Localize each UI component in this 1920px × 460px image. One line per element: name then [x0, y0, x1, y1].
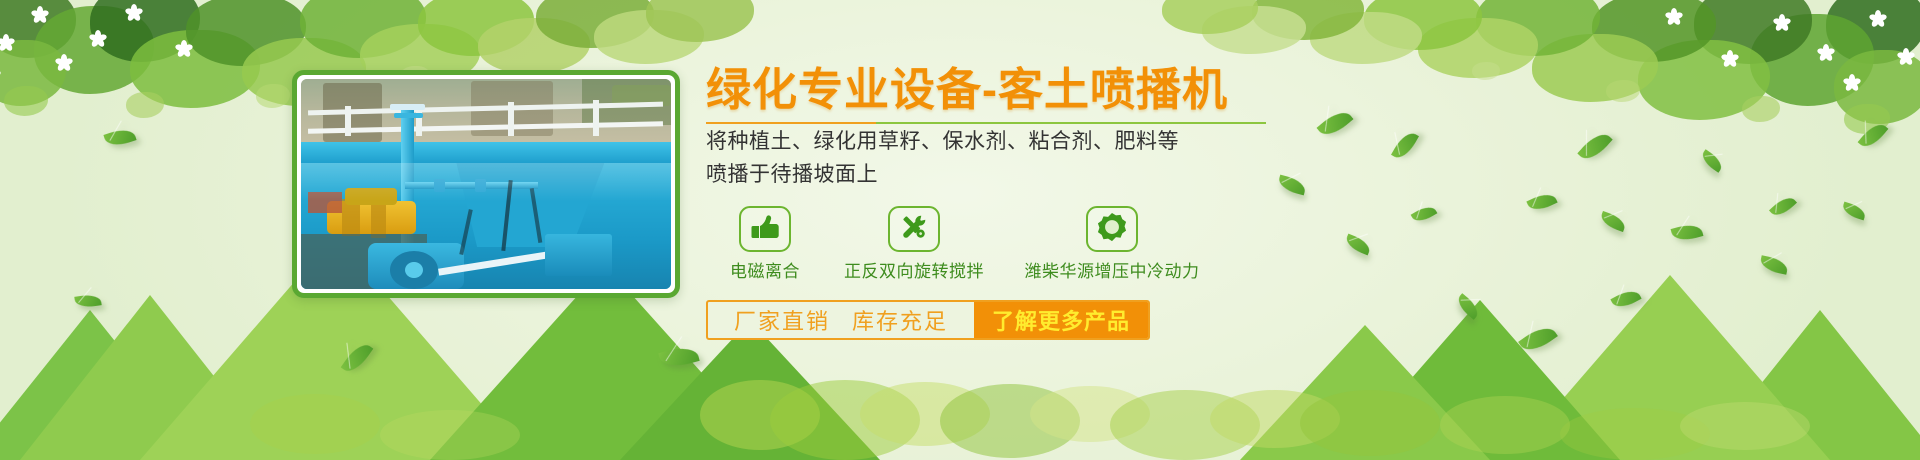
tools-icon [899, 212, 929, 247]
product-photo [301, 79, 671, 289]
page-title: 绿化专业设备-客土喷播机 [706, 62, 1406, 118]
gear-icon [1097, 212, 1127, 247]
thumbs-up-icon-box [739, 206, 791, 252]
product-photo-frame[interactable] [292, 70, 680, 298]
cta-tag-stock-sufficient: 库存充足 [852, 304, 948, 336]
feature-list: 电磁离合 [706, 206, 1406, 282]
cta-bar: 厂家直销 库存充足 了解更多产品 [706, 300, 1150, 340]
feature-item-electromagnetic-clutch: 电磁离合 [706, 206, 824, 282]
promo-banner: 绿化专业设备-客土喷播机 将种植土、绿化用草籽、保水剂、粘合剂、肥料等 喷播于待… [0, 0, 1920, 460]
gear-icon-box [1086, 206, 1138, 252]
feature-label: 电磁离合 [706, 257, 824, 282]
cta-tag-factory-direct: 厂家直销 [734, 304, 830, 336]
feature-item-turbo-intercooled-power: 潍柴华源增压中冷动力 [1004, 206, 1220, 282]
feature-item-bidirectional-mixing: 正反双向旋转搅拌 [824, 206, 1004, 282]
thumbs-up-icon [750, 214, 780, 245]
cta-tag-group: 厂家直销 库存充足 [708, 302, 974, 338]
feature-label: 潍柴华源增压中冷动力 [1004, 257, 1220, 282]
banner-content: 绿化专业设备-客土喷播机 将种植土、绿化用草籽、保水剂、粘合剂、肥料等 喷播于待… [706, 62, 1406, 340]
feature-label: 正反双向旋转搅拌 [824, 257, 1004, 282]
tools-icon-box [888, 206, 940, 252]
subtitle-line-2: 喷播于待播坡面上 [706, 160, 1406, 190]
learn-more-button[interactable]: 了解更多产品 [974, 302, 1148, 338]
subtitle-line-1: 将种植土、绿化用草籽、保水剂、粘合剂、肥料等 [706, 127, 1406, 157]
title-divider [706, 122, 1266, 124]
